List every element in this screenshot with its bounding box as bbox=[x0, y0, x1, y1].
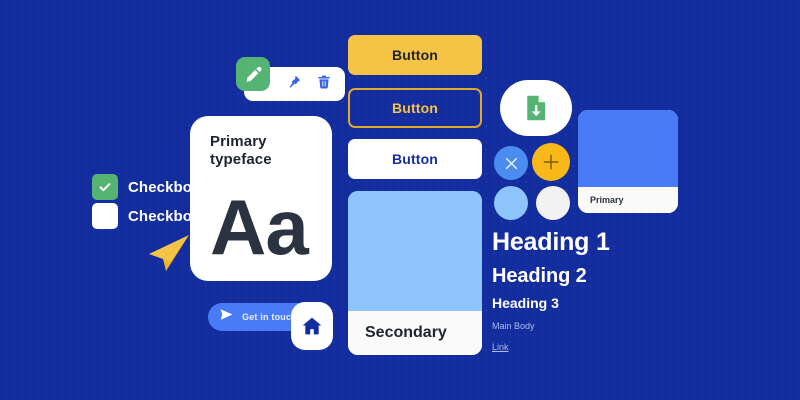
check-icon bbox=[97, 179, 113, 195]
edit-toolbar[interactable] bbox=[244, 67, 345, 101]
typeface-card: Primary typeface Aa bbox=[190, 116, 332, 281]
get-in-touch-label: Get in touch bbox=[242, 312, 297, 322]
checkbox-row-unchecked[interactable]: Checkbox bbox=[92, 203, 201, 229]
checkbox-unchecked[interactable] bbox=[92, 203, 118, 229]
swatch-secondary-label-strip: Secondary bbox=[348, 311, 482, 355]
button-filled[interactable]: Button bbox=[348, 35, 482, 75]
home-icon bbox=[301, 315, 323, 337]
swatch-primary-fill bbox=[578, 110, 678, 187]
edit-button[interactable] bbox=[236, 57, 270, 91]
checkbox-checked[interactable] bbox=[92, 174, 118, 200]
button-outline-label: Button bbox=[392, 100, 438, 116]
close-icon bbox=[503, 155, 520, 172]
paper-plane-cursor-icon bbox=[145, 233, 191, 278]
typeface-card-title: Primary typeface bbox=[210, 133, 312, 170]
heading-2: Heading 2 bbox=[492, 265, 610, 287]
swatch-primary: Primary bbox=[578, 110, 678, 213]
checkbox-row-checked[interactable]: Checkbox bbox=[92, 174, 201, 200]
file-download-icon bbox=[521, 93, 551, 123]
swatch-secondary: Secondary bbox=[348, 191, 482, 355]
button-white[interactable]: Button bbox=[348, 139, 482, 179]
close-circle-button[interactable] bbox=[494, 146, 528, 180]
design-system-canvas: Checkbox Checkbox bbox=[0, 0, 800, 400]
typeface-title-line2: typeface bbox=[210, 151, 312, 169]
typeface-sample: Aa bbox=[210, 188, 312, 266]
trash-icon[interactable] bbox=[316, 74, 332, 95]
pin-icon[interactable] bbox=[286, 74, 302, 95]
link-text[interactable]: Link bbox=[492, 343, 610, 353]
plus-icon bbox=[541, 152, 561, 172]
download-button[interactable] bbox=[500, 80, 572, 136]
swatch-circle-white[interactable] bbox=[536, 186, 570, 220]
body-text: Main Body bbox=[492, 322, 610, 332]
swatch-primary-label: Primary bbox=[590, 195, 624, 205]
home-button[interactable] bbox=[291, 302, 333, 350]
heading-1: Heading 1 bbox=[492, 229, 610, 257]
pencil-icon bbox=[244, 65, 263, 84]
button-white-label: Button bbox=[392, 151, 438, 167]
button-filled-label: Button bbox=[392, 47, 438, 63]
add-circle-button[interactable] bbox=[532, 143, 570, 181]
button-outline[interactable]: Button bbox=[348, 88, 482, 128]
swatch-circle-light-blue[interactable] bbox=[494, 186, 528, 220]
typography-scale: Heading 1 Heading 2 Heading 3 Main Body … bbox=[492, 229, 610, 353]
typeface-title-line1: Primary bbox=[210, 133, 312, 151]
swatch-secondary-fill bbox=[348, 191, 482, 311]
swatch-primary-label-strip: Primary bbox=[578, 187, 678, 213]
swatch-secondary-label: Secondary bbox=[365, 324, 447, 342]
send-icon bbox=[219, 307, 234, 327]
heading-3: Heading 3 bbox=[492, 296, 610, 311]
